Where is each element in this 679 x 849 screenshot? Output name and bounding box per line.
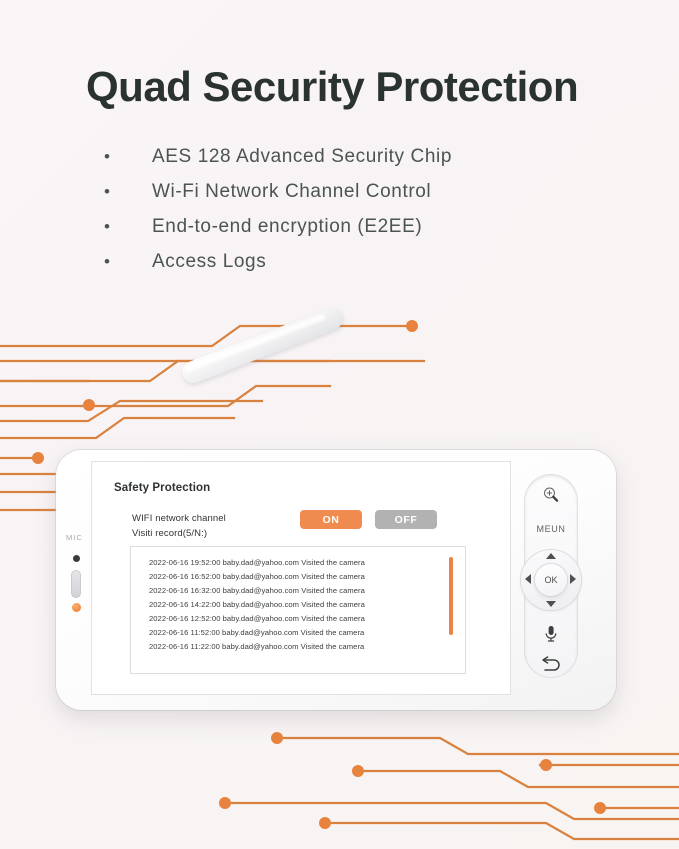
wifi-toggle-off-button[interactable]: OFF xyxy=(375,510,437,529)
log-entry: 2022-06-16 16:32:00 baby.dad@yahoo.com V… xyxy=(149,584,439,598)
list-item: • AES 128 Advanced Security Chip xyxy=(104,143,624,170)
chevron-right-icon[interactable] xyxy=(570,574,576,584)
chevron-left-icon[interactable] xyxy=(525,574,531,584)
log-entry: 2022-06-16 12:52:00 baby.dad@yahoo.com V… xyxy=(149,612,439,626)
wifi-channel-label: WIFI network channel xyxy=(132,513,226,524)
feature-list: • AES 128 Advanced Security Chip • Wi-Fi… xyxy=(104,143,624,283)
mic-label: MIC xyxy=(66,533,83,542)
log-entry: 2022-06-16 14:22:00 baby.dad@yahoo.com V… xyxy=(149,598,439,612)
log-entry: 2022-06-16 11:22:00 baby.dad@yahoo.com V… xyxy=(149,640,439,654)
access-log-list: 2022-06-16 19:52:00 baby.dad@yahoo.com V… xyxy=(149,556,439,654)
visit-record-label: Visiti record(5/N:) xyxy=(132,528,207,539)
page-title: Quad Security Protection xyxy=(86,63,646,110)
bullet-icon: • xyxy=(104,213,118,240)
log-entry: 2022-06-16 11:52:00 baby.dad@yahoo.com V… xyxy=(149,626,439,640)
back-arrow-icon[interactable] xyxy=(536,652,566,674)
wifi-toggle-on-button[interactable]: ON xyxy=(300,510,362,529)
log-entry: 2022-06-16 19:52:00 baby.dad@yahoo.com V… xyxy=(149,556,439,570)
microphone-icon[interactable] xyxy=(538,622,564,646)
log-scrollbar-thumb[interactable] xyxy=(449,557,453,635)
status-led-indicator xyxy=(72,603,81,612)
circuit-decoration xyxy=(0,0,679,849)
screen-title: Safety Protection xyxy=(114,482,210,494)
device-screen: Safety Protection WIFI network channel V… xyxy=(92,462,510,694)
feature-label: Wi-Fi Network Channel Control xyxy=(152,178,431,205)
log-entry: 2022-06-16 16:52:00 baby.dad@yahoo.com V… xyxy=(149,570,439,584)
bullet-icon: • xyxy=(104,178,118,205)
bullet-icon: • xyxy=(104,143,118,170)
menu-label[interactable]: MEUN xyxy=(525,524,577,534)
feature-label: AES 128 Advanced Security Chip xyxy=(152,143,452,170)
zoom-in-icon[interactable] xyxy=(538,484,564,506)
chevron-up-icon[interactable] xyxy=(546,553,556,559)
device-antenna xyxy=(179,305,346,386)
list-item: • End-to-end encryption (E2EE) xyxy=(104,213,624,240)
feature-label: End-to-end encryption (E2EE) xyxy=(152,213,422,240)
list-item: • Wi-Fi Network Channel Control xyxy=(104,178,624,205)
speaker-slot xyxy=(71,570,81,598)
list-item: • Access Logs xyxy=(104,248,624,275)
feature-label: Access Logs xyxy=(152,248,266,275)
log-scrollbar[interactable] xyxy=(449,557,453,667)
bullet-icon: • xyxy=(104,248,118,275)
ok-button[interactable]: OK xyxy=(535,564,567,596)
chevron-down-icon[interactable] xyxy=(546,601,556,607)
access-log-panel[interactable]: 2022-06-16 19:52:00 baby.dad@yahoo.com V… xyxy=(130,546,466,674)
microphone-hole-icon xyxy=(73,555,80,562)
